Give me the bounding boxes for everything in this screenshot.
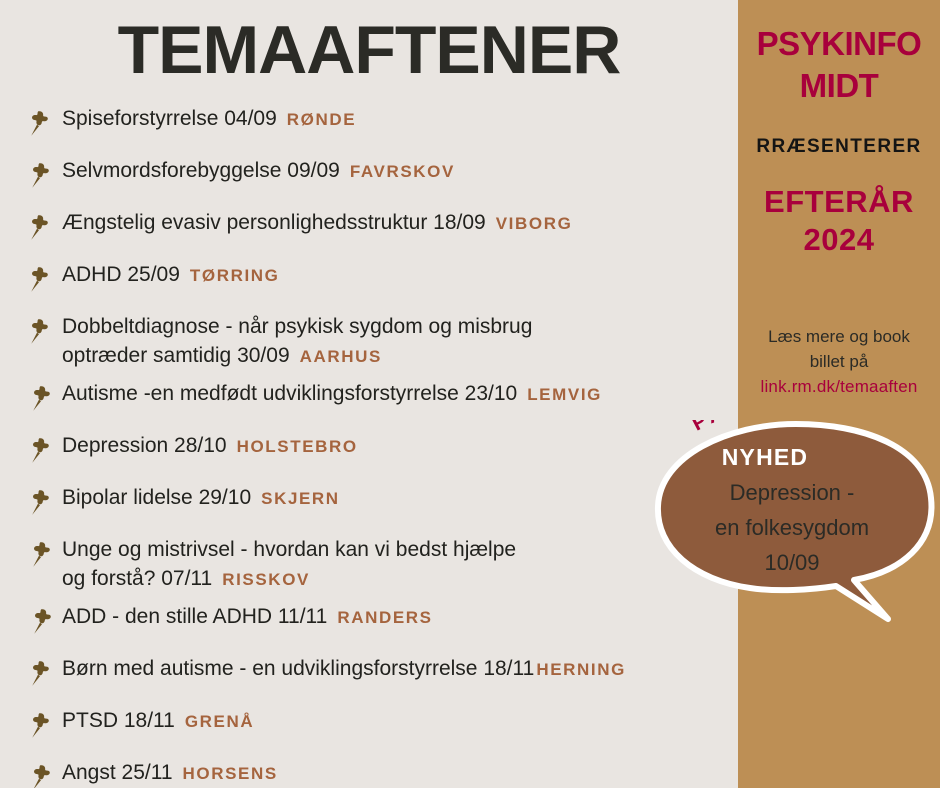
event-title-text-2: og forstå? 07/11 bbox=[62, 567, 212, 590]
event-city: AARHUS bbox=[300, 347, 382, 366]
pushpin-icon bbox=[28, 539, 56, 567]
event-item[interactable]: PTSD 18/11GRENÅ bbox=[0, 706, 738, 746]
pushpin-icon bbox=[27, 487, 55, 515]
event-city: RØNDE bbox=[287, 110, 356, 129]
event-item[interactable]: Spiseforstyrrelse 04/09RØNDE bbox=[0, 104, 738, 144]
event-item[interactable]: Selvmordsforebyggelse 09/09FAVRSKOV bbox=[0, 156, 738, 196]
event-title-text: Dobbeltdiagnose - når psykisk sygdom og … bbox=[62, 315, 532, 338]
event-item[interactable]: Unge og mistrivsel - hvordan kan vi beds… bbox=[0, 535, 738, 594]
event-item[interactable]: Børn med autisme - en udviklingsforstyrr… bbox=[0, 654, 738, 694]
event-title-line-2: og forstå? 07/11RISSKOV bbox=[62, 564, 738, 594]
event-title-text: Selvmordsforebyggelse 09/09 bbox=[62, 159, 340, 182]
event-item[interactable]: Ængstelig evasiv personlighedsstruktur 1… bbox=[0, 208, 738, 248]
event-title-text: Autisme -en medfødt udviklingsforstyrrel… bbox=[62, 382, 517, 405]
event-title: Børn med autisme - en udviklingsforstyrr… bbox=[62, 654, 738, 684]
pushpin-icon bbox=[27, 160, 55, 188]
event-title-line-2: optræder samtidig 30/09AARHUS bbox=[62, 341, 738, 371]
year-label: 2024 bbox=[738, 222, 940, 258]
booking-link[interactable]: link.rm.dk/temaaften bbox=[738, 377, 940, 397]
event-item[interactable]: Angst 25/11HORSENS bbox=[0, 758, 738, 788]
event-city: SKJERN bbox=[261, 489, 340, 508]
booking-text-line-2: billet på bbox=[738, 349, 940, 374]
event-title-text: ADHD 25/09 bbox=[62, 263, 180, 286]
pushpin-icon bbox=[28, 762, 56, 788]
event-title: Depression 28/10HOLSTEBRO bbox=[62, 431, 738, 461]
event-city: TØRRING bbox=[190, 266, 280, 285]
event-item[interactable]: ADD - den stille ADHD 11/11RANDERS bbox=[0, 602, 738, 642]
event-title: Selvmordsforebyggelse 09/09FAVRSKOV bbox=[62, 156, 738, 186]
event-city: LEMVIG bbox=[527, 385, 602, 404]
event-title: Ængstelig evasiv personlighedsstruktur 1… bbox=[62, 208, 738, 238]
event-title: Autisme -en medfødt udviklingsforstyrrel… bbox=[62, 379, 738, 409]
event-title-text: Børn med autisme - en udviklingsforstyrr… bbox=[62, 657, 534, 680]
event-title: PTSD 18/11GRENÅ bbox=[62, 706, 738, 736]
bubble-shape bbox=[658, 424, 932, 619]
event-title-text: Depression 28/10 bbox=[62, 434, 227, 457]
page-title: TEMAAFTENER bbox=[0, 8, 738, 92]
event-title-text: Angst 25/11 bbox=[62, 761, 173, 784]
event-city: FAVRSKOV bbox=[350, 162, 455, 181]
event-city: HORSENS bbox=[183, 764, 278, 783]
event-item[interactable]: ADHD 25/09TØRRING bbox=[0, 260, 738, 300]
event-title-text: Bipolar lidelse 29/10 bbox=[62, 486, 251, 509]
pushpin-icon bbox=[26, 212, 54, 240]
event-list: Spiseforstyrrelse 04/09RØNDE Selvmordsfo… bbox=[0, 104, 738, 788]
event-city: HERNING bbox=[536, 660, 626, 679]
event-item[interactable]: Autisme -en medfødt udviklingsforstyrrel… bbox=[0, 379, 738, 419]
event-title-text: Unge og mistrivsel - hvordan kan vi beds… bbox=[62, 538, 516, 561]
pushpin-icon bbox=[29, 606, 57, 634]
event-city: GRENÅ bbox=[185, 712, 254, 731]
event-title: Bipolar lidelse 29/10SKJERN bbox=[62, 483, 738, 513]
event-title: Unge og mistrivsel - hvordan kan vi beds… bbox=[62, 535, 738, 564]
pushpin-icon bbox=[27, 710, 55, 738]
event-item[interactable]: Depression 28/10HOLSTEBRO bbox=[0, 431, 738, 471]
pushpin-icon bbox=[26, 316, 54, 344]
pushpin-icon bbox=[27, 658, 55, 686]
pushpin-icon bbox=[26, 108, 54, 136]
pushpin-icon bbox=[27, 435, 55, 463]
event-title-text: ADD - den stille ADHD 11/11 bbox=[62, 605, 327, 628]
season-label: EFTERÅR bbox=[738, 184, 940, 220]
event-item[interactable]: Bipolar lidelse 29/10SKJERN bbox=[0, 483, 738, 523]
pushpin-icon bbox=[28, 383, 56, 411]
pushpin-icon bbox=[26, 264, 54, 292]
brand-line-2: MIDT bbox=[738, 66, 940, 105]
event-title: Dobbeltdiagnose - når psykisk sygdom og … bbox=[62, 312, 738, 341]
brand-line-1: PSYKINFO bbox=[738, 24, 940, 63]
event-city: HOLSTEBRO bbox=[237, 437, 358, 456]
event-title: Spiseforstyrrelse 04/09RØNDE bbox=[62, 104, 738, 134]
booking-text-line-1: Læs mere og book bbox=[738, 324, 940, 349]
news-speech-bubble: PÅ SAMSØ NYHED Depression - en folkesygd… bbox=[650, 420, 940, 635]
poster-canvas: TEMAAFTENER Spiseforstyrrelse 04/09RØNDE… bbox=[0, 0, 940, 788]
event-title: ADHD 25/09TØRRING bbox=[62, 260, 738, 290]
event-city: RANDERS bbox=[337, 608, 432, 627]
event-title: ADD - den stille ADHD 11/11RANDERS bbox=[62, 602, 738, 632]
event-title-text: Ængstelig evasiv personlighedsstruktur 1… bbox=[62, 211, 486, 234]
sidebar-panel: PSYKINFO MIDT RRÆSENTERER EFTERÅR 2024 L… bbox=[738, 0, 940, 788]
event-city: VIBORG bbox=[496, 214, 573, 233]
event-title: Angst 25/11HORSENS bbox=[62, 758, 738, 788]
event-title-text: Spiseforstyrrelse 04/09 bbox=[62, 107, 277, 130]
event-title-text: PTSD 18/11 bbox=[62, 709, 175, 732]
event-item[interactable]: Dobbeltdiagnose - når psykisk sygdom og … bbox=[0, 312, 738, 371]
event-title-text-2: optræder samtidig 30/09 bbox=[62, 344, 290, 367]
presents-label: RRÆSENTERER bbox=[738, 136, 940, 158]
event-city: RISSKOV bbox=[222, 570, 310, 589]
